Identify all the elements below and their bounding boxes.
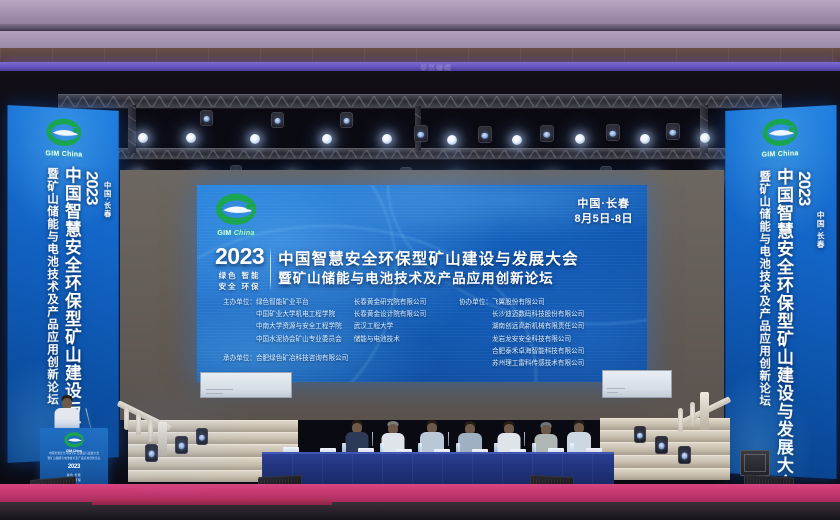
host-item: 中南大学资源与安全工程学院 [256, 321, 342, 333]
ceiling-band [0, 0, 840, 26]
coorganizer-label: 协办单位： [459, 297, 492, 370]
banner-right-year: 2023 [794, 171, 814, 206]
floor-moving-head [175, 436, 188, 454]
baluster [136, 412, 141, 436]
banner-right-wordmark: GIM China [756, 150, 804, 159]
truss-leg-left [128, 105, 136, 153]
screen-slogan-line2: 安全 环保 [215, 281, 264, 292]
host-item: 长春黄金研究院有限公司 [354, 297, 427, 309]
screen-logo-china: China [234, 230, 255, 237]
host-item: 武汉工程大学 [354, 321, 427, 333]
par-light [382, 134, 392, 144]
moving-head-fixture [666, 123, 680, 140]
banner-right-city: 中国·长春 [815, 211, 826, 249]
par-light [700, 133, 710, 143]
side-banner-right: GIM China 2023 中国·长春 中国智慧安全环保型矿山建设与发展大会 … [725, 105, 836, 479]
moving-head-fixture [271, 112, 284, 128]
screen-title-main: 中国智慧安全环保型矿山建设与发展大会 [278, 250, 579, 269]
screen-location: 中国·长春 [574, 197, 633, 212]
screen-logo-wordmark: GIM China [209, 230, 263, 237]
coorganizer-item: 合肥泰禾卓海智能科技有限公司 [492, 346, 584, 358]
gim-china-logo-mark [61, 432, 87, 449]
gim-china-logo-mark [756, 117, 804, 151]
microphone-stand [524, 432, 525, 446]
par-light [640, 134, 650, 144]
banner-right-title-main: 中国智慧安全环保型矿山建设与发展大会 [771, 167, 796, 479]
host-item: 储能与电池技术 [354, 334, 427, 346]
par-light [447, 135, 457, 145]
floor-moving-head [145, 444, 158, 462]
floor-moving-head [678, 446, 691, 464]
aux-display-left [200, 372, 292, 398]
screen-title-sub: 暨矿山储能与电池技术及产品应用创新论坛 [278, 270, 579, 288]
stair-step [600, 418, 730, 430]
ceiling-band-lower [0, 31, 840, 48]
banner-left-title-sub: 暨矿山储能与电池技术及产品应用创新论坛 [44, 167, 60, 406]
screen-title-row: 2023 绿色 智能 安全 环保 中国智慧安全环保型矿山建设与发展大会 暨矿山储… [215, 245, 579, 293]
moving-head-fixture [340, 112, 353, 128]
screen-location-date: 中国·长春 8月5日-8日 [574, 197, 633, 227]
banner-left-logo: GIM China [40, 117, 88, 159]
host-columns: 绿色智能矿业平台 中国矿业大学机电工程学院 中南大学资源与安全工程学院 中国水泥… [256, 297, 426, 346]
par-light [138, 133, 148, 143]
screen-title-block: 中国智慧安全环保型矿山建设与发展大会 暨矿山储能与电池技术及产品应用创新论坛 [278, 250, 579, 287]
podium-line-2: 暨矿山储能与电池技术及产品应用创新论坛 [40, 457, 108, 462]
organizer-item: 合肥绿色矿冶科技咨询有限公司 [256, 353, 348, 365]
host-column-2: 长春黄金研究院有限公司 长春黄金设计院有限公司 武汉工程大学 储能与电池技术 [354, 297, 427, 346]
title-divider [270, 247, 271, 291]
baluster [148, 418, 153, 442]
upper-wall [0, 48, 840, 62]
podium-logo: GIM China [61, 432, 87, 453]
screen-year-block: 2023 绿色 智能 安全 环保 [215, 245, 270, 293]
baluster [124, 406, 129, 430]
speaker-at-podium [54, 395, 80, 429]
screen-slogan-line1: 绿色 智能 [215, 270, 264, 281]
banner-left-wordmark: GIM China [40, 150, 88, 159]
moving-head-fixture [414, 125, 428, 142]
aux-display-right [602, 370, 672, 398]
banner-right-title-sub: 暨矿山储能与电池技术及产品应用创新论坛 [756, 170, 772, 407]
banner-left-city: 中国·长春 [102, 181, 113, 218]
moving-head-fixture [200, 110, 213, 126]
host-item: 中国矿业大学机电工程学院 [256, 309, 342, 321]
banner-right-logo: GIM China [756, 117, 804, 159]
host-item: 中国水泥协会矿山专业委员会 [256, 334, 342, 346]
newel-post-left [158, 422, 167, 456]
coorganizer-item: 湖南创远高新机械有限责任公司 [492, 321, 584, 333]
moving-head-fixture [606, 124, 620, 141]
newel-post-right [700, 392, 709, 430]
coorganizer-item: 苏州理工雷科传感技术有限公司 [492, 358, 584, 370]
conference-stage-photo: 会议横幅 G [0, 0, 840, 520]
podium-year: 2023 [40, 464, 108, 470]
podium-title-lines: 中国智慧安全环保型矿山建设与发展大会 暨矿山储能与电池技术及产品应用创新论坛 [40, 452, 108, 462]
par-light [512, 135, 522, 145]
baluster [678, 408, 683, 432]
host-column-1: 绿色智能矿业平台 中国矿业大学机电工程学院 中南大学资源与安全工程学院 中国水泥… [256, 297, 342, 346]
screen-logo-gim: GIM [217, 230, 231, 237]
screen-slogan: 绿色 智能 安全 环保 [215, 270, 264, 293]
ceiling-beam [0, 24, 840, 31]
truss-leg-right [700, 105, 708, 153]
host-item: 长春黄金设计院有限公司 [354, 309, 427, 321]
par-light [250, 134, 260, 144]
baluster [690, 402, 695, 426]
carpet-runner [92, 498, 332, 505]
moving-head-fixture [478, 126, 492, 143]
speaker-body [55, 408, 80, 429]
screen-logo: GIM China [209, 193, 263, 237]
stair-step [128, 432, 298, 444]
par-light [575, 134, 585, 144]
banner-left-year: 2023 [82, 171, 102, 205]
floor-moving-head [196, 428, 208, 445]
host-label: 主办单位： [223, 297, 256, 346]
stair-step [600, 455, 730, 468]
coorganizer-items: 飞翼股份有限公司 长沙迪迈数码科技股份有限公司 湖南创远高新机械有限责任公司 龙… [492, 297, 584, 370]
gim-china-logo-mark [40, 117, 88, 151]
microphone-stand [448, 432, 449, 446]
floor-moving-head [655, 436, 668, 454]
coorganizer-item: 飞翼股份有限公司 [492, 297, 584, 309]
gim-china-logo-mark [209, 193, 263, 229]
coorganizer-group: 协办单位： 飞翼股份有限公司 长沙迪迈数码科技股份有限公司 湖南创远高新机械有限… [459, 297, 584, 370]
par-light [186, 133, 196, 143]
organizer-label: 承办单位： [223, 353, 256, 365]
coorganizer-item: 长沙迪迈数码科技股份有限公司 [492, 309, 584, 321]
organizer-items: 合肥绿色矿冶科技咨询有限公司 [256, 353, 348, 365]
floor-moving-head [634, 426, 646, 443]
screen-date: 8月5日-8日 [574, 212, 633, 227]
moving-head-fixture [540, 125, 554, 142]
par-light [322, 134, 332, 144]
microphone-stand [372, 432, 373, 446]
main-led-screen: GIM China 中国·长春 8月5日-8日 2023 绿色 智能 安全 环保… [197, 185, 647, 382]
road-case [740, 450, 770, 476]
screen-coorganizers: 协办单位： 飞翼股份有限公司 长沙迪迈数码科技股份有限公司 湖南创远高新机械有限… [459, 297, 584, 370]
coorganizer-item: 龙岩龙安安全科技有限公司 [492, 334, 584, 346]
stair-step [600, 468, 730, 480]
screen-year: 2023 [215, 245, 264, 268]
host-item: 绿色智能矿业平台 [256, 297, 342, 309]
